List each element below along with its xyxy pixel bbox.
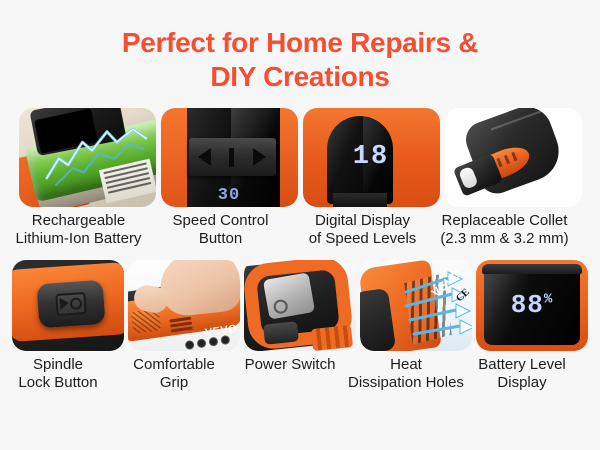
feature-image-heat-dissipation-holes: VEVO CE <box>360 260 472 351</box>
housing-base <box>333 193 387 207</box>
caption-line-2: Grip <box>99 374 249 392</box>
page-title: Perfect for Home Repairs & DIY Creations <box>0 0 600 94</box>
hand-photo <box>157 260 240 318</box>
feature-image-replaceable-collet <box>445 108 582 207</box>
feature-row-2: Spindle Lock Button VEVO Comfortable Gri… <box>0 260 600 392</box>
grip-ribs-orange <box>311 325 353 351</box>
feature-card-replaceable-collet[interactable]: Replaceable Collet (2.3 mm & 3.2 mm) <box>445 108 581 248</box>
percent-unit: % <box>544 291 553 307</box>
page-title-line-2: DIY Creations <box>0 60 600 94</box>
feature-image-comfortable-grip: VEVO <box>128 260 240 351</box>
feature-caption-battery-level-display: Battery Level Display <box>447 356 597 392</box>
metal-shaft-detail <box>263 272 315 319</box>
page-title-line-1: Perfect for Home Repairs & <box>0 26 600 60</box>
feature-caption-replaceable-collet: Replaceable Collet (2.3 mm & 3.2 mm) <box>420 212 590 248</box>
caption-line-2: Display <box>447 374 597 392</box>
feature-card-battery-level-display[interactable]: 88% Battery Level Display <box>477 260 587 392</box>
feature-image-rechargeable-battery <box>19 108 156 207</box>
speed-level-readout: 18 <box>303 142 440 172</box>
collet-tip <box>458 166 478 190</box>
feature-image-power-switch <box>244 260 356 351</box>
increase-speed-arrow-icon <box>253 148 266 166</box>
spindle-lock-button[interactable] <box>37 280 106 328</box>
speed-readout: 30 <box>161 186 298 205</box>
battery-percent-readout: 88% <box>476 290 588 320</box>
caption-line-1: Replaceable Collet <box>420 212 590 230</box>
vent-slots <box>169 315 193 334</box>
spindle-lock-icon <box>55 292 86 316</box>
decrease-speed-arrow-icon <box>198 148 211 166</box>
feature-image-spindle-lock-button <box>12 260 124 351</box>
speed-rocker-button[interactable] <box>189 138 276 176</box>
caption-line-1: Battery Level <box>447 356 597 374</box>
caption-line-2: (2.3 mm & 3.2 mm) <box>420 230 590 248</box>
power-switch-button[interactable] <box>263 321 299 344</box>
screen-bezel-top <box>482 264 582 274</box>
feature-image-battery-level-display: 88% <box>476 260 588 351</box>
feature-image-speed-control-button: 30 <box>161 108 298 207</box>
center-bar-icon <box>229 148 234 167</box>
battery-percent-value: 88 <box>511 290 544 320</box>
feature-row-1: Rechargeable Lithium-Ion Battery 30 <box>0 108 600 248</box>
feature-image-digital-display: 18 <box>303 108 440 207</box>
